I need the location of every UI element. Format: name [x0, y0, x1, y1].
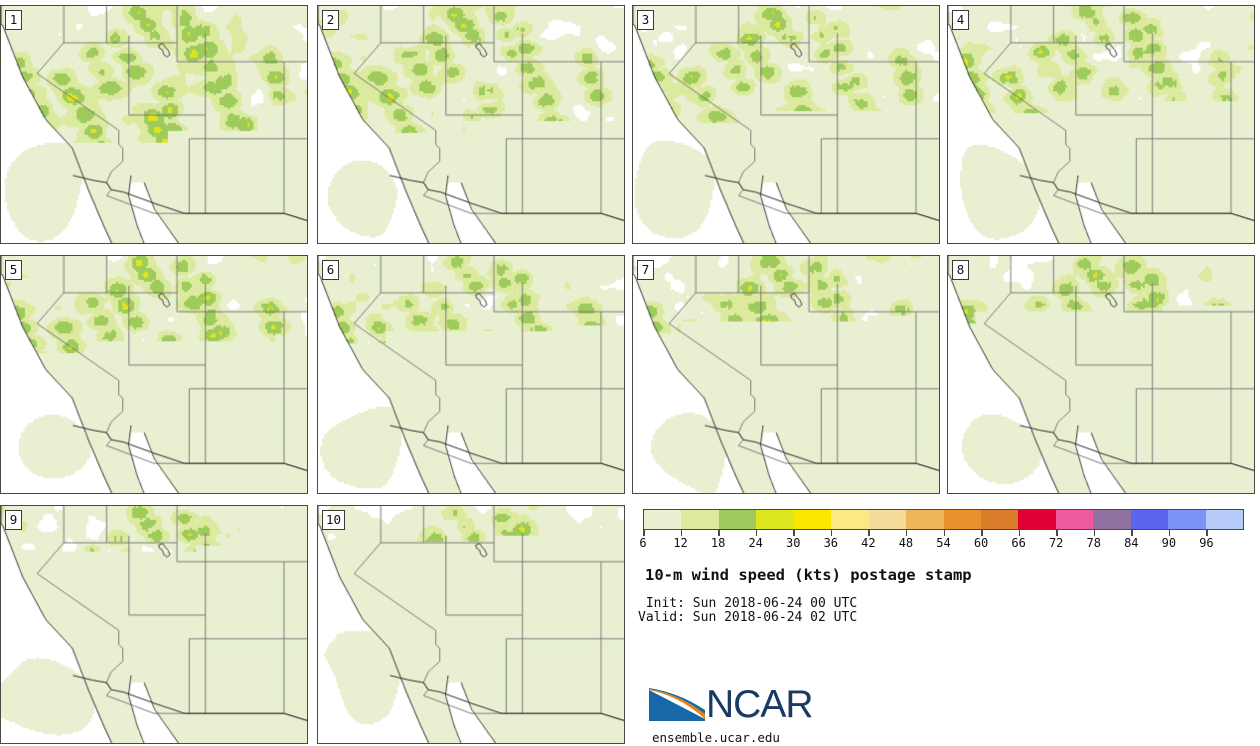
figure-title: 10-m wind speed (kts) postage stamp — [645, 566, 972, 584]
colorbar-tick-label: 42 — [861, 536, 875, 550]
map-canvas — [1, 6, 307, 243]
panel-number-badge: 8 — [952, 260, 969, 280]
colorbar-swatch-5 — [831, 510, 868, 529]
colorbar-tick-label: 54 — [936, 536, 950, 550]
colorbar-swatch-2 — [719, 510, 756, 529]
ncar-swoosh-icon — [648, 688, 706, 722]
map-panel-5[interactable]: 5 — [0, 255, 308, 494]
colorbar-tick-label: 48 — [899, 536, 913, 550]
colorbar-tick-label: 18 — [711, 536, 725, 550]
colorbar-swatch-11 — [1056, 510, 1093, 529]
map-canvas — [318, 506, 624, 743]
map-panel-2[interactable]: 2 — [317, 5, 625, 244]
colorbar-swatch-13 — [1131, 510, 1168, 529]
colorbar-tick-label: 30 — [786, 536, 800, 550]
colorbar-swatch-12 — [1093, 510, 1130, 529]
panel-number-badge: 4 — [952, 10, 969, 30]
map-canvas — [948, 6, 1254, 243]
ncar-wordmark: NCAR — [706, 685, 813, 724]
colorbar-tick-label: 96 — [1199, 536, 1213, 550]
colorbar-tick-label: 36 — [824, 536, 838, 550]
colorbar-tick-label: 78 — [1087, 536, 1101, 550]
valid-time-label: Valid: Sun 2018-06-24 02 UTC — [638, 610, 857, 625]
colorbar-swatch-1 — [681, 510, 718, 529]
figure-root: 1 2 3 4 5 6 7 8 9 10 612182430364248546 — [0, 0, 1260, 746]
colorbar-tick-label: 84 — [1124, 536, 1138, 550]
colorbar-swatch-6 — [869, 510, 906, 529]
colorbar-tick-label: 60 — [974, 536, 988, 550]
init-time-label: Init: Sun 2018-06-24 00 UTC — [638, 596, 857, 611]
panel-number-badge: 1 — [5, 10, 22, 30]
map-panel-6[interactable]: 6 — [317, 255, 625, 494]
colorbar-tick-label: 6 — [639, 536, 646, 550]
colorbar: 6121824303642485460667278849096 — [643, 509, 1244, 552]
ncar-logo[interactable]: NCAR ensemble.ucar.edu — [648, 688, 848, 744]
panel-number-badge: 9 — [5, 510, 22, 530]
map-canvas — [318, 6, 624, 243]
colorbar-tick-label: 66 — [1011, 536, 1025, 550]
colorbar-swatch-8 — [944, 510, 981, 529]
colorbar-swatch-7 — [906, 510, 943, 529]
colorbar-swatch-10 — [1018, 510, 1055, 529]
map-canvas — [633, 256, 939, 493]
map-panel-9[interactable]: 9 — [0, 505, 308, 744]
colorbar-tick-label: 24 — [748, 536, 762, 550]
colorbar-swatches — [643, 509, 1244, 530]
colorbar-tick-label: 90 — [1162, 536, 1176, 550]
colorbar-tick-label: 72 — [1049, 536, 1063, 550]
panel-number-badge: 2 — [322, 10, 339, 30]
panel-number-badge: 3 — [637, 10, 654, 30]
map-canvas — [633, 6, 939, 243]
map-panel-8[interactable]: 8 — [947, 255, 1255, 494]
colorbar-tick-labels: 6121824303642485460667278849096 — [643, 536, 1244, 552]
panel-number-badge: 10 — [322, 510, 345, 530]
panel-number-badge: 6 — [322, 260, 339, 280]
ncar-url-label: ensemble.ucar.edu — [652, 730, 780, 745]
colorbar-swatch-4 — [794, 510, 831, 529]
panel-number-badge: 5 — [5, 260, 22, 280]
colorbar-swatch-9 — [981, 510, 1018, 529]
colorbar-swatch-15 — [1206, 510, 1243, 529]
colorbar-swatch-3 — [756, 510, 793, 529]
map-panel-3[interactable]: 3 — [632, 5, 940, 244]
map-canvas — [1, 506, 307, 743]
colorbar-swatch-0 — [644, 510, 681, 529]
panel-number-badge: 7 — [637, 260, 654, 280]
map-canvas — [948, 256, 1254, 493]
colorbar-tick-label: 12 — [673, 536, 687, 550]
map-canvas — [1, 256, 307, 493]
map-panel-7[interactable]: 7 — [632, 255, 940, 494]
map-panel-10[interactable]: 10 — [317, 505, 625, 744]
map-panel-4[interactable]: 4 — [947, 5, 1255, 244]
map-canvas — [318, 256, 624, 493]
map-panel-1[interactable]: 1 — [0, 5, 308, 244]
colorbar-swatch-14 — [1168, 510, 1205, 529]
